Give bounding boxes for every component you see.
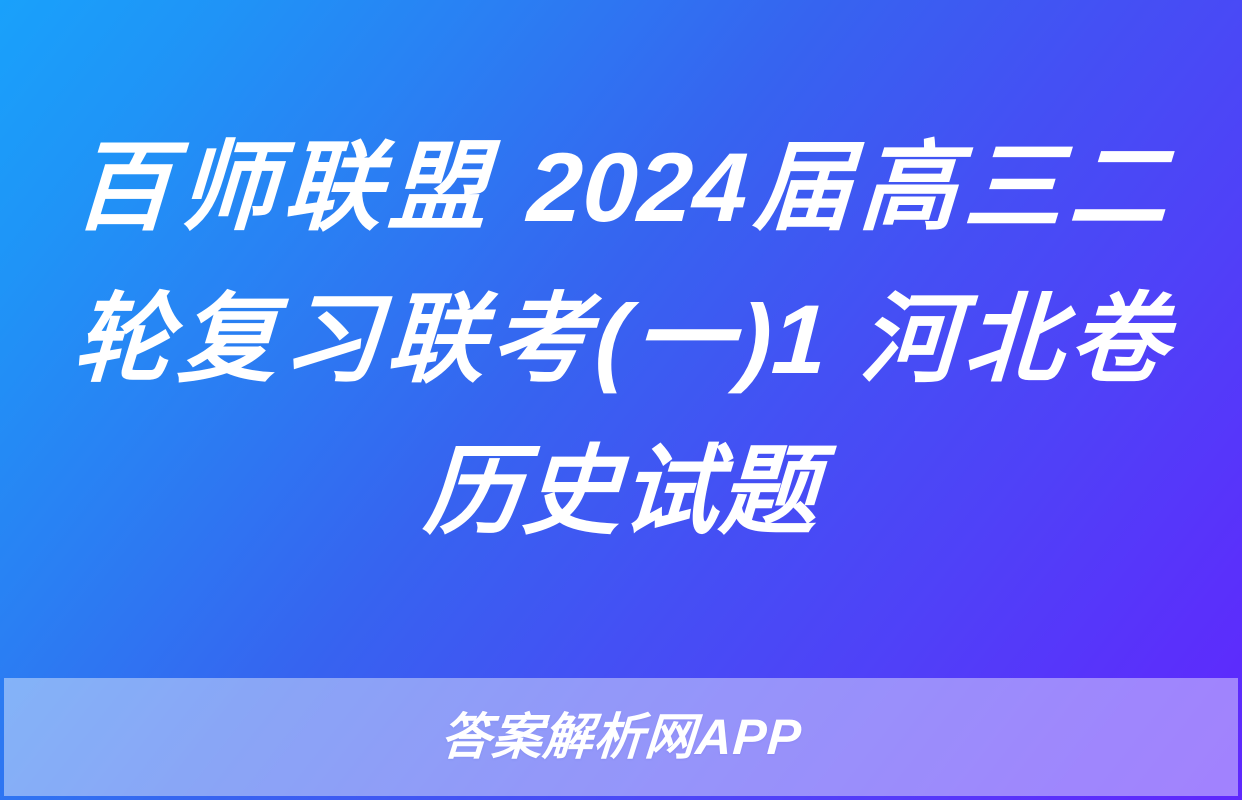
exam-title-card: 百师联盟 2024届高三二 轮复习联考(一)1 河北卷 历史试题 答案解析网AP… [0,0,1242,800]
title-line-1: 百师联盟 2024届高三二 [70,111,1172,263]
watermark-label: 答案解析网APP [439,712,803,762]
title-line-3: 历史试题 [70,415,1172,567]
title-block: 百师联盟 2024届高三二 轮复习联考(一)1 河北卷 历史试题 [0,0,1242,678]
footer-watermark-band: 答案解析网APP [4,678,1238,796]
title-line-2: 轮复习联考(一)1 河北卷 [70,263,1172,415]
